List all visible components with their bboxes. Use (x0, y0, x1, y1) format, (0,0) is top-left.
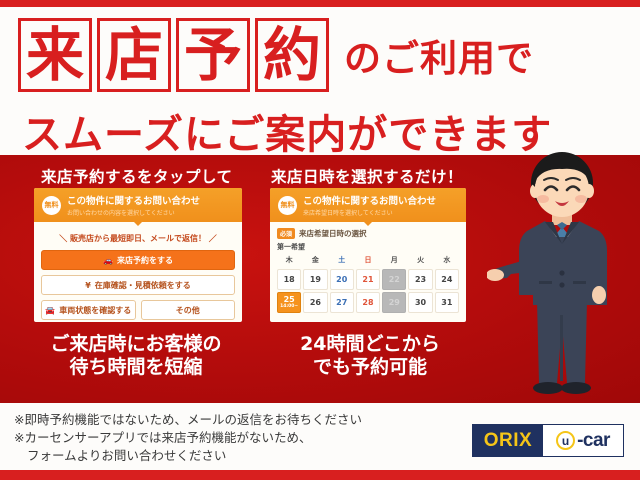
calendar-day-21[interactable]: 21 (356, 269, 380, 290)
calendar-day-number: 31 (441, 298, 452, 307)
calendar-day-number: 21 (362, 275, 373, 284)
calendar-day-number: 27 (336, 298, 347, 307)
calendar-day-number: 18 (284, 275, 295, 284)
right-caption-line-1: 24時間どこから (262, 333, 478, 356)
calendar-grid: 木金土日月火水 (277, 255, 459, 267)
calendar-day-number: 20 (336, 275, 347, 284)
logo-car-text: -car (577, 430, 610, 452)
calendar-day-number: 19 (310, 275, 321, 284)
calendar-week-2: 2514:00~262728293031 (277, 292, 459, 313)
right-caption-line-2: でも予約可能 (262, 356, 478, 379)
footer-disclaimer: ※即時予約機能ではないため、メールの返信をお待ちください ※カーセンサーアプリで… (14, 411, 362, 465)
calendar-day-25[interactable]: 2514:00~ (277, 292, 301, 313)
right-mock-screen: 無料 この物件に関するお問い合わせ 来店希望日時を選択してください 必須 来店希… (270, 188, 466, 322)
left-mock-screen: 無料 この物件に関するお問い合わせ お問い合わせの内容を選択してください ＼ 販… (34, 188, 242, 322)
headline-kanji-box-3: 予 (176, 18, 250, 92)
headline-tail-text: のご利用で (344, 28, 534, 82)
calendar-day-number: 22 (389, 275, 400, 284)
calendar-day-number: 28 (362, 298, 373, 307)
mock-button-reserve-visit-label: 来店予約をする (117, 255, 173, 266)
headline-kanji-box-4: 約 (255, 18, 329, 92)
left-caption-line-2: 待ち時間を短縮 (18, 356, 254, 379)
calendar-section-label: 来店希望日時の選択 (299, 228, 367, 239)
calendar-day-26[interactable]: 26 (303, 292, 327, 313)
mock-button-row: 🚘 車両状態を確認する その他 (41, 300, 235, 320)
headline-kanji-box-1: 来 (18, 18, 92, 92)
calendar-week-1: 18192021222324 (277, 269, 459, 290)
calendar-day-number: 26 (310, 298, 321, 307)
mock-button-reserve-visit[interactable]: 🚗 来店予約をする (41, 250, 235, 270)
car-outline-icon: 🚘 (45, 306, 55, 315)
calendar-dow-火: 火 (408, 255, 432, 267)
logo-brand-orix: ORIX (473, 425, 543, 456)
calendar-dow-木: 木 (277, 255, 301, 267)
left-mock-header: 無料 この物件に関するお問い合わせ お問い合わせの内容を選択してください (34, 188, 242, 222)
calendar-day-24[interactable]: 24 (435, 269, 459, 290)
logo-u-circle-icon: u (556, 431, 575, 450)
calendar-day-23[interactable]: 23 (408, 269, 432, 290)
left-mock-header-title: この物件に関するお問い合わせ (67, 193, 200, 207)
calendar-day-29: 29 (382, 292, 406, 313)
car-icon: 🚗 (103, 256, 113, 265)
calendar-day-19[interactable]: 19 (303, 269, 327, 290)
calendar-dow-水: 水 (435, 255, 459, 267)
calendar-day-18[interactable]: 18 (277, 269, 301, 290)
calendar-day-number: 25 (284, 295, 295, 304)
calendar-day-note: 14:00~ (280, 305, 298, 310)
calendar-day-number: 24 (441, 275, 452, 284)
calendar-day-20[interactable]: 20 (330, 269, 354, 290)
left-caption-line-1: ご来店時にお客様の (18, 333, 254, 356)
calendar-label-row: 必須 来店希望日時の選択 (277, 228, 459, 239)
free-badge: 無料 (42, 196, 61, 215)
calendar-day-30[interactable]: 30 (408, 292, 432, 313)
left-panel-title: 来店予約するをタップして (41, 165, 233, 187)
headline-kanji-box-2: 店 (97, 18, 171, 92)
footer-note-line-3: フォームよりお問い合わせください (14, 447, 362, 465)
footer-note-line-2: ※カーセンサーアプリでは来店予約機能がないため、 (14, 429, 362, 447)
calendar-day-22: 22 (382, 269, 406, 290)
advertisement-banner: 来 店 予 約 のご利用で スムーズにご案内ができます 来店予約するをタップして… (0, 0, 640, 480)
calendar-dow-土: 土 (330, 255, 354, 267)
mock-button-stock-quote[interactable]: ¥ 在庫確認・見積依頼をする (41, 275, 235, 295)
right-mock-header-title: この物件に関するお問い合わせ (303, 193, 436, 207)
smiling-businessman-illustration (487, 145, 637, 403)
footer-note-line-1: ※即時予約機能ではないため、メールの返信をお待ちください (14, 411, 362, 429)
required-badge: 必須 (277, 228, 295, 239)
left-mock-header-subtitle: お問い合わせの内容を選択してください (67, 208, 200, 217)
right-mock-body: 必須 来店希望日時の選択 第一希望 木金土日月火水 18192021222324… (270, 222, 466, 313)
right-caption: 24時間どこから でも予約可能 (262, 333, 478, 379)
right-mock-header-subtitle: 来店希望日時を選択してください (303, 208, 436, 217)
calendar-day-number: 30 (415, 298, 426, 307)
mock-button-vehicle-condition[interactable]: 🚘 車両状態を確認する (41, 300, 136, 320)
mock-button-other-label: その他 (176, 305, 200, 316)
yen-icon: ¥ (85, 281, 91, 290)
calendar-day-31[interactable]: 31 (435, 292, 459, 313)
mock-button-vehicle-condition-label: 車両状態を確認する (59, 305, 131, 316)
mock-button-stock-quote-label: 在庫確認・見積依頼をする (95, 280, 191, 291)
headline-row-2: スムーズにご案内ができます (22, 102, 552, 160)
left-caption: ご来店時にお客様の 待ち時間を短縮 (18, 333, 254, 379)
left-mock-body: ＼ 販売店から最短即日、メールで返信！ ／ 🚗 来店予約をする ¥ 在庫確認・見… (34, 222, 242, 320)
right-panel-title: 来店日時を選択するだけ！ (271, 165, 463, 187)
left-mock-lead-text: ＼ 販売店から最短即日、メールで返信！ ／ (41, 233, 235, 244)
calendar-day-number: 29 (389, 298, 400, 307)
logo-ucar: u -car (543, 425, 623, 456)
header-notch (133, 221, 143, 226)
mock-button-other[interactable]: その他 (141, 300, 236, 320)
preference-label: 第一希望 (277, 242, 459, 252)
headline-block: 来 店 予 約 のご利用で スムーズにご案内ができます (0, 10, 640, 155)
calendar-day-27[interactable]: 27 (330, 292, 354, 313)
calendar-dow-月: 月 (382, 255, 406, 267)
bottom-red-rule (0, 470, 640, 480)
calendar-dow-日: 日 (356, 255, 380, 267)
headline-row-1: 来 店 予 約 のご利用で (18, 18, 534, 92)
right-mock-header: 無料 この物件に関するお問い合わせ 来店希望日時を選択してください (270, 188, 466, 222)
calendar-day-28[interactable]: 28 (356, 292, 380, 313)
header-notch (363, 221, 373, 226)
orix-ucar-logo: ORIX u -car (472, 424, 624, 457)
calendar-dow-金: 金 (303, 255, 327, 267)
calendar-day-number: 23 (415, 275, 426, 284)
free-badge: 無料 (278, 196, 297, 215)
top-red-rule (0, 0, 640, 7)
